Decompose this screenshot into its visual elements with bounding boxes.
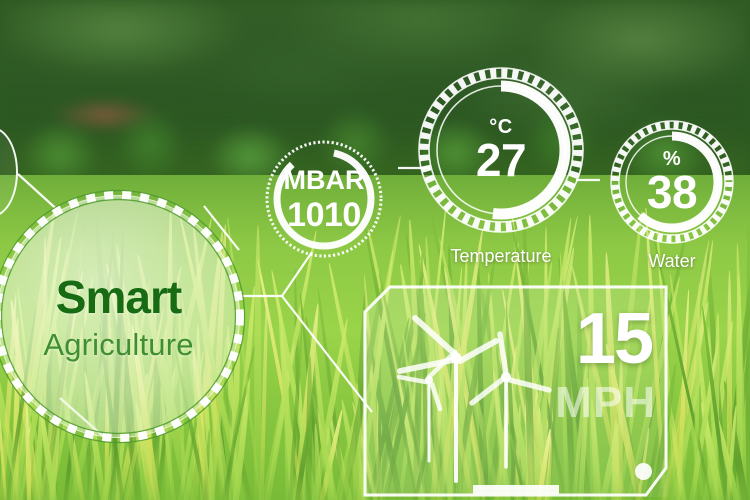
water-gauge[interactable]: % 38 Water xyxy=(607,117,737,247)
hub-subtitle: Agriculture xyxy=(43,329,193,360)
wind-turbine-icon xyxy=(399,318,549,481)
temperature-value: 27 xyxy=(476,137,526,183)
temperature-gauge[interactable]: °C 27 Temperature xyxy=(413,62,589,238)
water-value: 38 xyxy=(647,169,697,215)
pressure-gauge-readout: MBAR 1010 xyxy=(262,137,386,261)
water-gauge-readout: % 38 xyxy=(607,117,737,247)
hub-text: Smart Agriculture xyxy=(0,185,250,448)
wind-panel[interactable]: 15 MPH xyxy=(363,285,668,497)
wind-panel-corner-dot xyxy=(635,463,652,480)
wind-speed-value: 15 xyxy=(576,307,652,372)
smart-agriculture-hub[interactable]: Smart Agriculture xyxy=(0,185,250,448)
wind-panel-bottom-bar xyxy=(473,485,559,494)
temperature-gauge-readout: °C 27 xyxy=(413,62,589,238)
pressure-value: 1010 xyxy=(287,198,361,232)
water-label: Water xyxy=(648,251,695,272)
hub-title: Smart xyxy=(56,274,181,320)
pressure-unit: MBAR xyxy=(284,167,365,194)
wind-speed-unit: MPH xyxy=(555,381,656,425)
pressure-gauge[interactable]: MBAR 1010 xyxy=(262,137,386,261)
temperature-label: Temperature xyxy=(450,246,551,267)
dashboard-stage: Smart Agriculture MBAR 1010 °C 27 Temper… xyxy=(0,0,750,500)
